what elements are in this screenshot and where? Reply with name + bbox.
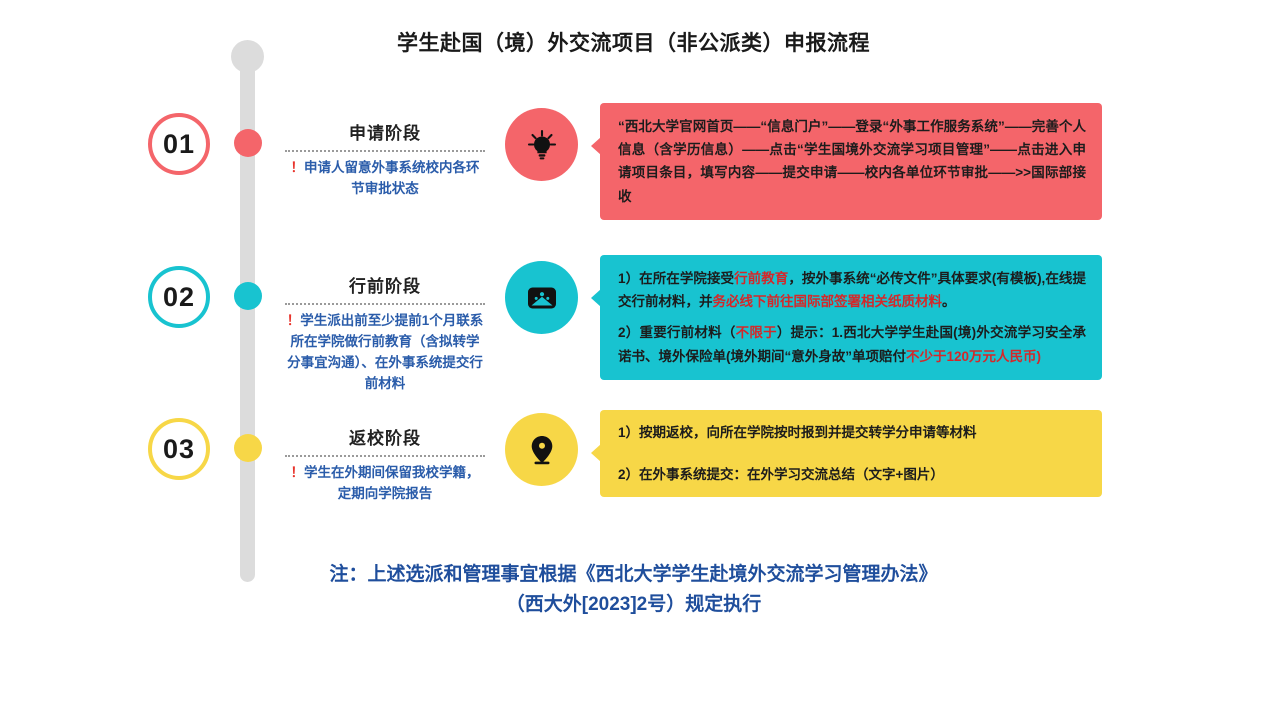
flowchart-page: 学生赴国（境）外交流项目（非公派类）申报流程 01 申请阶段 ！申请人留意外事系… [0,0,1267,713]
bubble-paragraph: 1）在所在学院接受行前教育，按外事系统“必传文件”具体要求(有模板),在线提交行… [618,267,1086,313]
timeline-dot [234,129,262,157]
location-pin-icon-badge [505,413,578,486]
stage-note: ！申请人留意外事系统校内各环节审批状态 [285,158,485,200]
bubble-highlight: 行前教育 [734,271,788,286]
stage-text-block: 返校阶段 ！学生在外期间保留我校学籍，定期向学院报告 [285,424,485,505]
bubble-text: 1）按期返校，向所在学院按时报到并提交转学分申请等材料 [618,425,977,440]
bubble-text: 2）在外事系统提交：在外学习交流总结（文字+图片） [618,467,944,482]
warning-mark: ！ [291,160,305,175]
stage-note: ！学生在外期间保留我校学籍，定期向学院报告 [285,463,485,505]
stage-label: 返校阶段 [285,424,485,455]
lightbulb-icon [525,128,559,162]
bubble-text: 1）在所在学院接受 [618,271,734,286]
stage-text-block: 申请阶段 ！申请人留意外事系统校内各环节审批状态 [285,119,485,200]
stage-detail-bubble: “西北大学官网首页——“信息门户”——登录“外事工作服务系统”——完善个人信息（… [600,103,1102,220]
timeline-dot [234,434,262,462]
warning-mark: ！ [291,465,305,480]
stage-detail-bubble: 1）在所在学院接受行前教育，按外事系统“必传文件”具体要求(有模板),在线提交行… [600,255,1102,380]
footer-note: 注：上述选派和管理事宜根据《西北大学学生赴境外交流学习管理办法》 （西大外[20… [0,560,1267,621]
stage-detail-bubble: 1）按期返校，向所在学院按时报到并提交转学分申请等材料 2）在外事系统提交：在外… [600,410,1102,497]
timeline-dot [234,282,262,310]
stage-number-badge: 01 [148,113,210,175]
warning-mark: ！ [287,313,301,328]
location-pin-icon [525,433,559,467]
photo-mountain-icon [525,281,559,315]
stage-number-badge: 03 [148,418,210,480]
stage-note-text: 申请人留意外事系统校内各环节审批状态 [304,160,480,196]
stage-note-text: 学生在外期间保留我校学籍，定期向学院报告 [304,465,480,501]
bubble-paragraph: 1）按期返校，向所在学院按时报到并提交转学分申请等材料 [618,422,1086,444]
stage-label: 行前阶段 [285,272,485,303]
stage-note: ！学生派出前至少提前1个月联系所在学院做行前教育（含拟转学分事宜沟通）、在外事系… [285,311,485,395]
bubble-highlight: 不少于120万元人民币) [906,349,1041,364]
page-title: 学生赴国（境）外交流项目（非公派类）申报流程 [0,27,1267,57]
footer-line-1: 注：上述选派和管理事宜根据《西北大学学生赴境外交流学习管理办法》 [0,560,1267,590]
bubble-text: “西北大学官网首页——“信息门户”——登录“外事工作服务系统”——完善个人信息（… [618,119,1086,204]
stage-note-text: 学生派出前至少提前1个月联系所在学院做行前教育（含拟转学分事宜沟通）、在外事系统… [287,313,483,391]
stage-divider [285,455,485,457]
bubble-paragraph: 2）重要行前材料（不限于）提示：1.西北大学学生赴国(境)外交流学习安全承诺书、… [618,321,1086,367]
lightbulb-icon-badge [505,108,578,181]
stage-divider [285,150,485,152]
bubble-paragraph: “西北大学官网首页——“信息门户”——登录“外事工作服务系统”——完善个人信息（… [618,115,1086,208]
bubble-highlight: 不限于 [736,325,777,340]
bubble-text: 2）重要行前材料（ [618,325,736,340]
footer-line-2: （西大外[2023]2号）规定执行 [0,590,1267,620]
bubble-text: 。 [942,294,956,309]
stage-number-badge: 02 [148,266,210,328]
bubble-highlight: 务必线下前往国际部签署相关纸质材料 [713,294,943,309]
stage-label: 申请阶段 [285,119,485,150]
stage-divider [285,303,485,305]
stage-text-block: 行前阶段 ！学生派出前至少提前1个月联系所在学院做行前教育（含拟转学分事宜沟通）… [285,272,485,395]
bubble-paragraph: 2）在外事系统提交：在外学习交流总结（文字+图片） [618,464,1086,486]
photo-mountain-icon-badge [505,261,578,334]
